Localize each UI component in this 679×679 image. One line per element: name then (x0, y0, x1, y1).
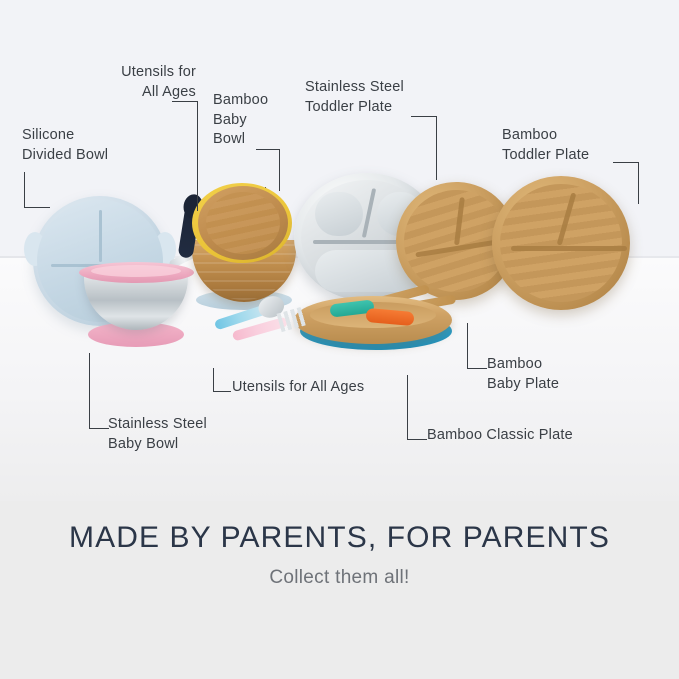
leader-line-bamboo-baby-plate (467, 323, 487, 369)
callout-label-bamboo-classic-plate: Bamboo Classic Plate (427, 426, 573, 446)
product-infographic: Silicone Divided Bowl Utensils for All A… (0, 0, 679, 679)
footer-headline: MADE BY PARENTS, FOR PARENTS (0, 521, 679, 555)
lid-highlight (91, 265, 181, 277)
callout-label-stainless-toddler-plate: Stainless Steel Toddler Plate (305, 78, 404, 117)
plate-inner (500, 184, 622, 302)
plate-compartment-1 (315, 192, 363, 236)
product-stainless-baby-bowl-lid (79, 262, 194, 283)
bowl-divider-vertical (99, 210, 102, 262)
callout-label-stainless-baby-bowl: Stainless Steel Baby Bowl (108, 415, 207, 454)
callout-label-bamboo-baby-plate: Bamboo Baby Plate (487, 355, 559, 394)
callout-label-bamboo-baby-bowl: Bamboo Baby Bowl (213, 91, 268, 150)
leader-line-utensils-top (172, 101, 198, 211)
leader-line-utensils-bottom (213, 368, 231, 392)
bamboo-baby-bowl-lid (198, 186, 288, 260)
callout-label-silicone-divided-bowl: Silicone Divided Bowl (22, 126, 108, 165)
leader-line-stainless-baby-bowl (89, 353, 109, 429)
plate-divider-horizontal (511, 246, 627, 251)
leader-line-bamboo-baby-bowl (256, 149, 280, 191)
plate-divider-vertical (557, 192, 577, 245)
leader-line-stainless-toddler-plate (411, 116, 437, 180)
leader-line-silicone-divided-bowl (24, 172, 50, 208)
plate-divider-vertical (454, 197, 465, 245)
callout-label-bamboo-toddler-plate: Bamboo Toddler Plate (502, 126, 589, 165)
bamboo-lid-grain (206, 192, 280, 254)
leader-line-bamboo-toddler-plate (613, 162, 639, 204)
leader-line-bamboo-classic-plate (407, 375, 427, 440)
product-bamboo-toddler-plate-front (492, 176, 630, 310)
callout-label-utensils-top: Utensils for All Ages (98, 63, 196, 102)
callout-label-utensils-bottom: Utensils for All Ages (232, 378, 364, 398)
footer-subline: Collect them all! (0, 567, 679, 589)
plate-divider-vertical (362, 188, 376, 238)
